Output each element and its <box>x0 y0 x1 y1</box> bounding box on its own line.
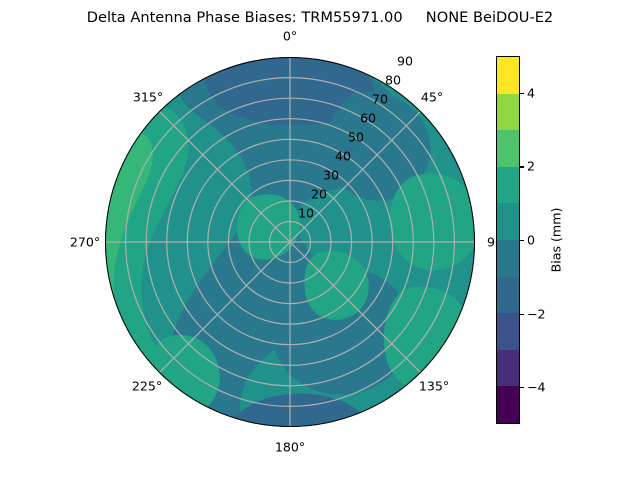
r-tick-80: 80 <box>385 73 401 88</box>
r-tick-30: 30 <box>323 168 339 183</box>
r-tick-70: 70 <box>372 92 388 107</box>
r-tick-50: 50 <box>348 130 364 145</box>
colorbar[interactable]: 4 2 0 −2 −4 <box>496 56 520 424</box>
colorbar-band-3 <box>497 313 519 350</box>
colorbar-ticklabel-2: 2 <box>527 159 535 174</box>
colorbar-tickmark-0 <box>520 240 524 241</box>
colorbar-tickmark-4 <box>520 93 524 94</box>
polar-axes[interactable] <box>105 57 475 427</box>
theta-tick-225: 225° <box>132 379 162 394</box>
figure-canvas: Delta Antenna Phase Biases: TRM55971.00 … <box>0 0 640 480</box>
colorbar-tickmark-neg4 <box>520 387 524 388</box>
colorbar-band-5 <box>497 240 519 277</box>
colorbar-band-2 <box>497 350 519 387</box>
colorbar-ticklabel-neg2: −2 <box>527 306 546 321</box>
colorbar-band-7 <box>497 167 519 204</box>
theta-tick-270: 270° <box>70 235 100 250</box>
theta-tick-180: 180° <box>275 440 305 455</box>
colorbar-band-10 <box>497 57 519 94</box>
colorbar-band-4 <box>497 277 519 314</box>
polar-data-region <box>105 57 475 427</box>
r-tick-10: 10 <box>298 206 314 221</box>
polar-contour-plot <box>105 57 475 427</box>
theta-tick-135: 135° <box>419 379 449 394</box>
colorbar-band-8 <box>497 130 519 167</box>
colorbar-band-6 <box>497 203 519 240</box>
colorbar-tickmark-neg2 <box>520 314 524 315</box>
theta-tick-45: 45° <box>421 90 443 105</box>
r-tick-90: 90 <box>397 54 413 69</box>
colorbar-ticklabel-neg4: −4 <box>527 380 546 395</box>
polar-grid-spokes <box>105 57 475 427</box>
colorbar-band-1 <box>497 386 519 423</box>
colorbar-tickmark-2 <box>520 166 524 167</box>
theta-tick-315: 315° <box>133 90 163 105</box>
r-tick-40: 40 <box>335 149 351 164</box>
r-tick-60: 60 <box>360 111 376 126</box>
r-tick-20: 20 <box>311 187 327 202</box>
colorbar-band-9 <box>497 94 519 131</box>
colorbar-gradient <box>496 56 520 424</box>
colorbar-ticklabel-0: 0 <box>527 233 535 248</box>
colorbar-axis-label: Bias (mm) <box>549 208 564 273</box>
colorbar-ticklabel-4: 4 <box>527 85 535 100</box>
chart-title: Delta Antenna Phase Biases: TRM55971.00 … <box>0 9 640 26</box>
theta-tick-0: 0° <box>283 29 297 44</box>
